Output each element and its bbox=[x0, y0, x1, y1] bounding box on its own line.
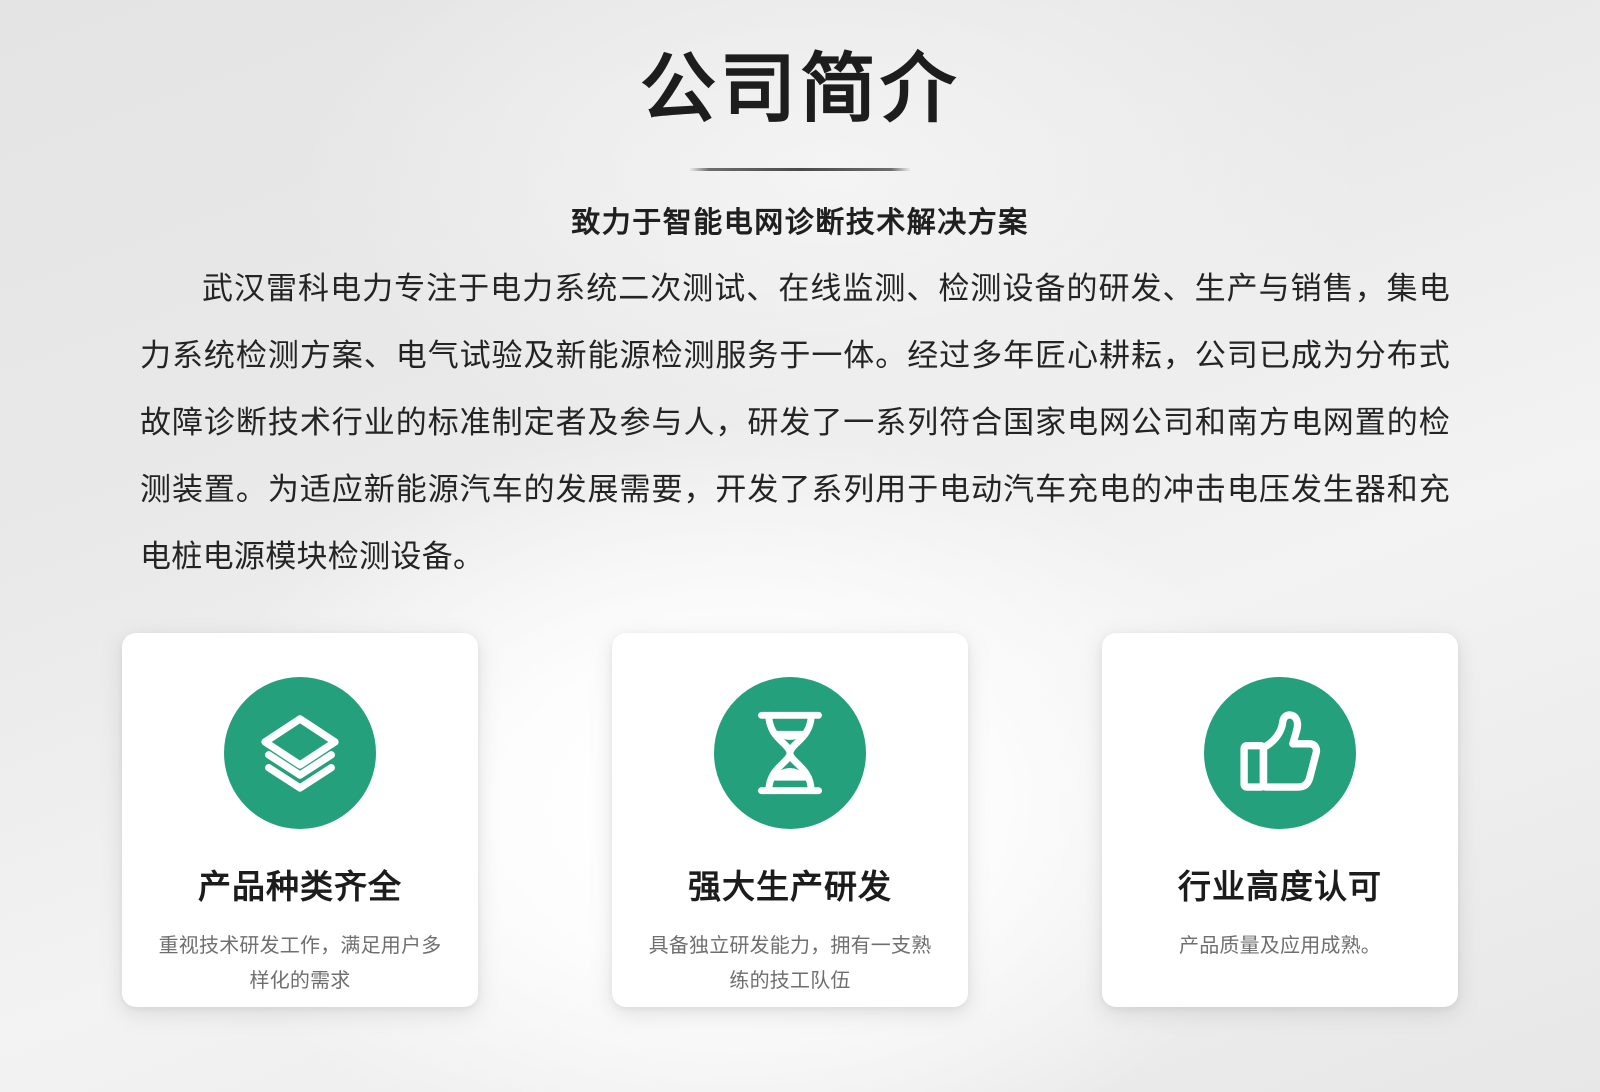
feature-card-desc: 产品质量及应用成熟。 bbox=[1130, 929, 1430, 964]
page-title: 公司简介 bbox=[0, 0, 1600, 128]
feature-card-title: 行业高度认可 bbox=[1178, 869, 1382, 905]
section-header: 公司简介 致力于智能电网诊断技术解决方案 bbox=[0, 0, 1600, 241]
feature-card[interactable]: 产品种类齐全 重视技术研发工作，满足用户多样化的需求 bbox=[122, 633, 478, 1007]
hourglass-icon bbox=[714, 677, 866, 829]
page-subtitle: 致力于智能电网诊断技术解决方案 bbox=[0, 199, 1600, 241]
feature-card-list: 产品种类齐全 重视技术研发工作，满足用户多样化的需求 强大生产研发 具备独立 bbox=[122, 633, 1458, 1007]
feature-card-title: 产品种类齐全 bbox=[198, 869, 402, 905]
title-divider bbox=[689, 168, 911, 171]
page-background: 公司简介 致力于智能电网诊断技术解决方案 武汉雷科电力专注于电力系统二次测试、在… bbox=[0, 0, 1600, 1092]
company-intro-paragraph: 武汉雷科电力专注于电力系统二次测试、在线监测、检测设备的研发、生产与销售，集电力… bbox=[140, 255, 1450, 590]
feature-card-desc: 重视技术研发工作，满足用户多样化的需求 bbox=[150, 929, 450, 999]
feature-card-desc: 具备独立研发能力，拥有一支熟练的技工队伍 bbox=[640, 929, 940, 999]
layers-icon bbox=[224, 677, 376, 829]
feature-card[interactable]: 强大生产研发 具备独立研发能力，拥有一支熟练的技工队伍 bbox=[612, 633, 968, 1007]
thumbs-up-icon bbox=[1204, 677, 1356, 829]
feature-card[interactable]: 行业高度认可 产品质量及应用成熟。 bbox=[1102, 633, 1458, 1007]
feature-card-title: 强大生产研发 bbox=[688, 869, 892, 905]
